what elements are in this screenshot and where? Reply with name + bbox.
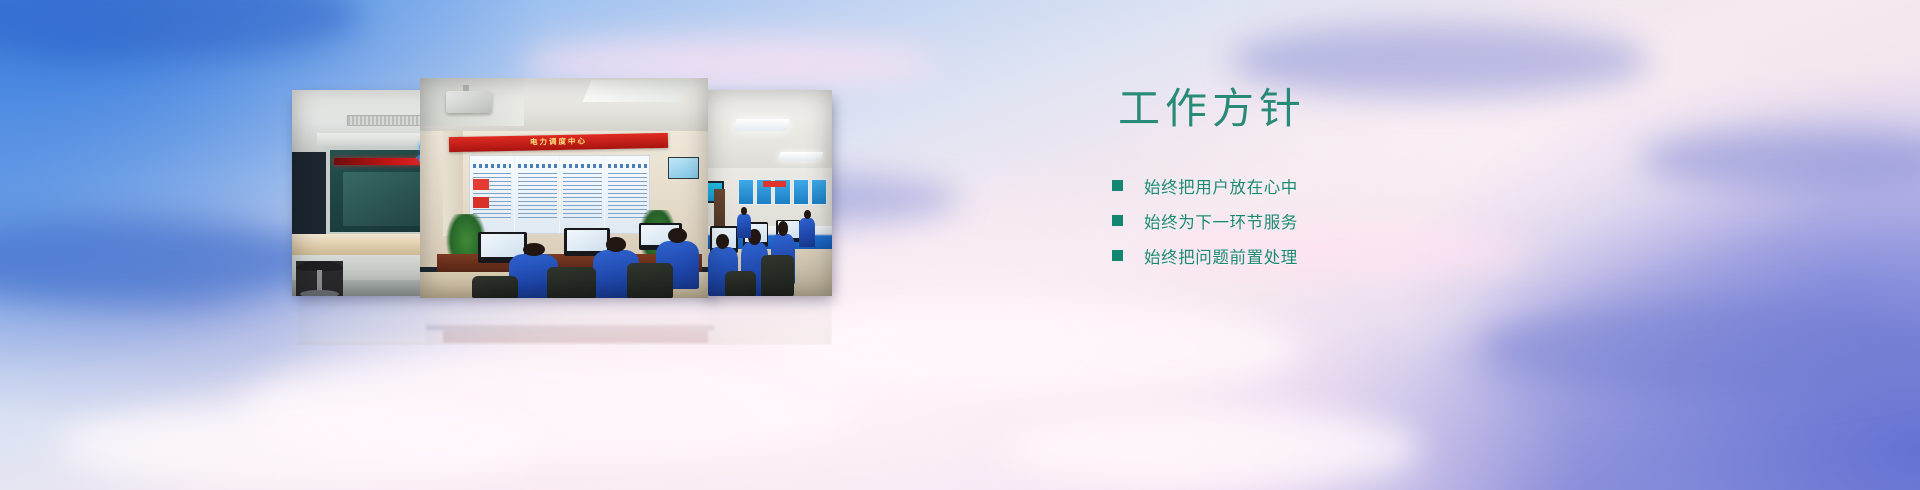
video-wall [469, 155, 650, 234]
hero-banner: 个人业务 对公业务 [0, 0, 1920, 490]
office-chair-r2 [725, 271, 755, 296]
square-bullet-icon [1112, 180, 1123, 191]
page-title: 工作方针 [1118, 88, 1632, 130]
reflection-right-photo [711, 301, 832, 345]
video-wall-pane [515, 156, 559, 233]
operator-chair-2 [627, 263, 673, 298]
list-item-label: 始终为下一环节服务 [1144, 209, 1298, 233]
ceiling-skylight [583, 80, 690, 102]
bullet-list: 始终把用户放在心中 始终为下一环节服务 始终把问题前置处理 [1112, 168, 1632, 273]
list-item[interactable]: 始终为下一环节服务 [1112, 203, 1632, 238]
reflection-center-photo [426, 299, 714, 345]
worker-r5 [737, 214, 751, 239]
list-item[interactable]: 始终把用户放在心中 [1112, 168, 1632, 203]
video-wall-pane [560, 156, 604, 233]
photo-collage: 个人业务 对公业务 [286, 74, 838, 304]
ceiling-lamp-2 [777, 152, 823, 161]
square-bullet-icon [1112, 250, 1123, 261]
office-workstation-photo[interactable] [705, 90, 832, 296]
ceiling-lamp-1 [734, 119, 791, 131]
video-wall-alert-2 [473, 197, 489, 208]
dispatch-control-hall-photo[interactable]: 电力调度中心 [420, 78, 708, 298]
projector-icon [446, 91, 492, 113]
worker-r4 [799, 218, 816, 247]
bar-stool-3 [296, 261, 343, 296]
list-item-label: 始终把问题前置处理 [1144, 244, 1298, 268]
banner-text-block: 工作方针 始终把用户放在心中 始终为下一环节服务 始终把问题前置处理 [1112, 88, 1632, 273]
list-item[interactable]: 始终把问题前置处理 [1112, 238, 1632, 273]
square-bullet-icon [1112, 215, 1123, 226]
wall-banner-red [763, 181, 786, 187]
side-monitor-icon [668, 157, 700, 179]
office-chair-r1 [761, 255, 794, 296]
video-wall-alert-1 [473, 179, 489, 190]
list-item-label: 始终把用户放在心中 [1144, 174, 1298, 198]
operator-chair-3 [472, 276, 518, 298]
operator-chair-1 [547, 267, 596, 298]
